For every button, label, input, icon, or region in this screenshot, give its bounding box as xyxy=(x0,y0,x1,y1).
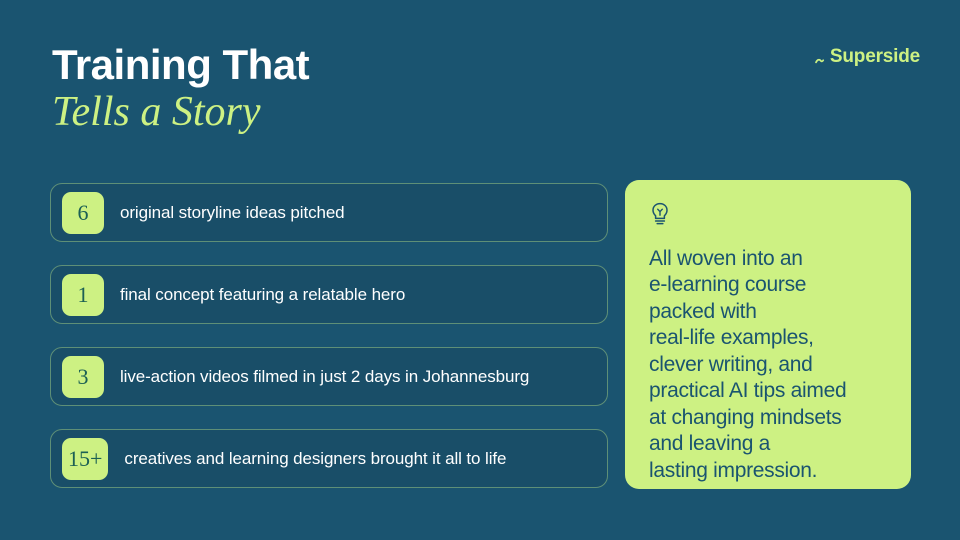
stat-label: final concept featuring a relatable hero xyxy=(120,285,405,305)
stat-label: original storyline ideas pitched xyxy=(120,203,345,223)
insight-card: All woven into an e-learning course pack… xyxy=(625,180,911,489)
stat-value-chip: 6 xyxy=(62,192,104,234)
insight-card-body: All woven into an e-learning course pack… xyxy=(649,246,887,484)
title-line-secondary: Tells a Story xyxy=(52,89,309,136)
stat-label: live-action videos filmed in just 2 days… xyxy=(120,367,529,387)
title-line-primary: Training That xyxy=(52,42,309,87)
stat-row: 15+ creatives and learning designers bro… xyxy=(50,429,608,488)
superside-swoosh-icon xyxy=(815,50,827,64)
page-title: Training That Tells a Story xyxy=(52,42,309,136)
superside-logo: Superside xyxy=(815,46,920,68)
stat-value-chip: 3 xyxy=(62,356,104,398)
stat-row: 6 original storyline ideas pitched xyxy=(50,183,608,242)
stat-row: 3 live-action videos filmed in just 2 da… xyxy=(50,347,608,406)
stat-value-chip: 1 xyxy=(62,274,104,316)
slide-header: Training That Tells a Story Superside xyxy=(0,0,960,160)
stats-list: 6 original storyline ideas pitched 1 fin… xyxy=(50,183,608,488)
lightbulb-icon xyxy=(649,202,671,226)
stat-label: creatives and learning designers brought… xyxy=(124,449,506,469)
logo-text: Superside xyxy=(830,46,920,68)
stat-value-chip: 15+ xyxy=(62,438,108,480)
stat-row: 1 final concept featuring a relatable he… xyxy=(50,265,608,324)
